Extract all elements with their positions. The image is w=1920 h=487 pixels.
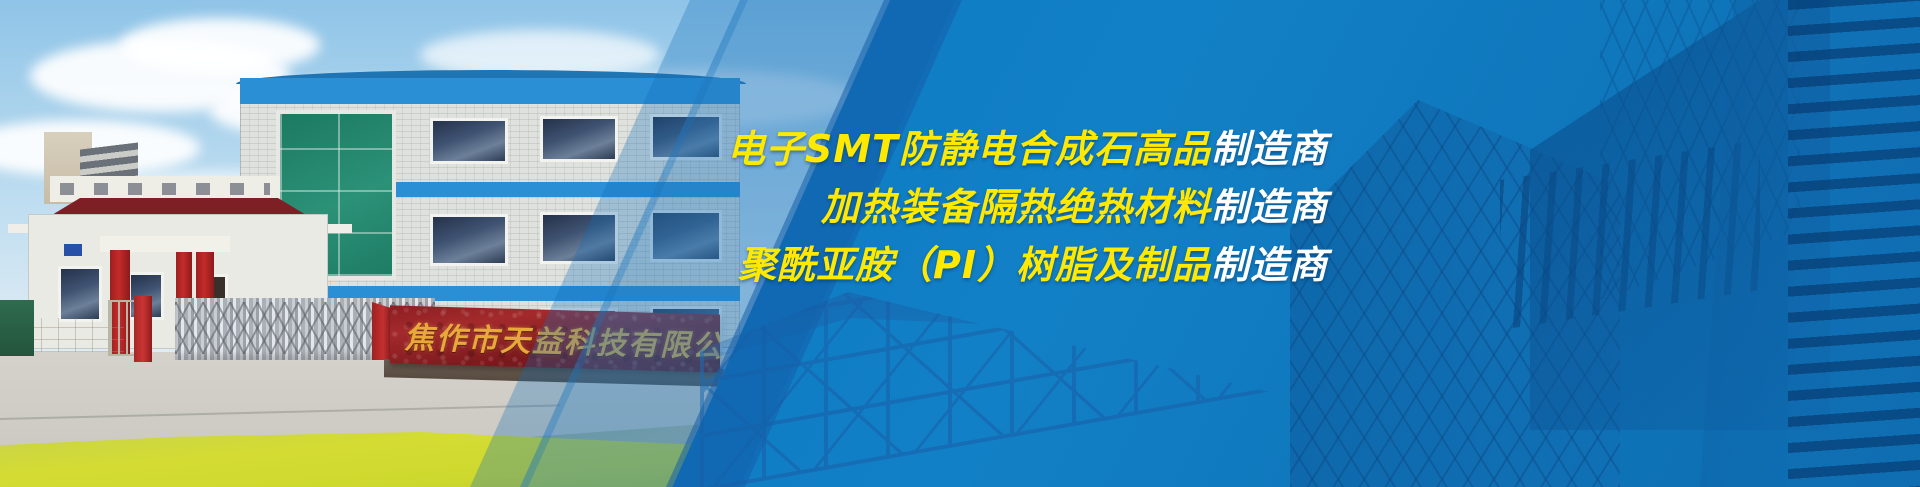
striped-facade-overlay bbox=[1788, 0, 1920, 487]
company-sign: 焦作市天益科技有限公司 bbox=[390, 305, 720, 372]
headline-2-plain: 制造商 bbox=[1211, 185, 1328, 229]
headline-line-3: 聚酰亚胺（PI）树脂及制品制造商 bbox=[568, 236, 1328, 294]
headline-line-1: 电子SMT防静电合成石高品制造商 bbox=[568, 120, 1328, 178]
cloud bbox=[120, 18, 320, 72]
window bbox=[58, 266, 102, 322]
wall-plaque bbox=[64, 244, 82, 256]
headline-1-highlight: 电子SMT防静电合成石高品 bbox=[727, 127, 1211, 171]
hero-banner: 焦作市天益科技有限公司 电子SMT防静电合成石高品制造商 加热装备隔热绝热材料制… bbox=[0, 0, 1920, 487]
headline-1-plain: 制造商 bbox=[1211, 127, 1328, 171]
gate-post bbox=[134, 296, 152, 362]
headline-3-plain: 制造商 bbox=[1211, 243, 1328, 287]
company-sign-text: 焦作市天益科技有限公司 bbox=[404, 313, 714, 366]
headline-line-2: 加热装备隔热绝热材料制造商 bbox=[568, 178, 1328, 236]
headline-2-highlight: 加热装备隔热绝热材料 bbox=[821, 185, 1211, 229]
window bbox=[430, 214, 508, 266]
window bbox=[430, 118, 508, 164]
headline-3-highlight: 聚酰亚胺（PI）树脂及制品 bbox=[738, 243, 1211, 287]
facade-band bbox=[240, 78, 740, 104]
headline-group: 电子SMT防静电合成石高品制造商 加热装备隔热绝热材料制造商 聚酰亚胺（PI）树… bbox=[568, 120, 1328, 294]
hedge bbox=[0, 300, 34, 356]
